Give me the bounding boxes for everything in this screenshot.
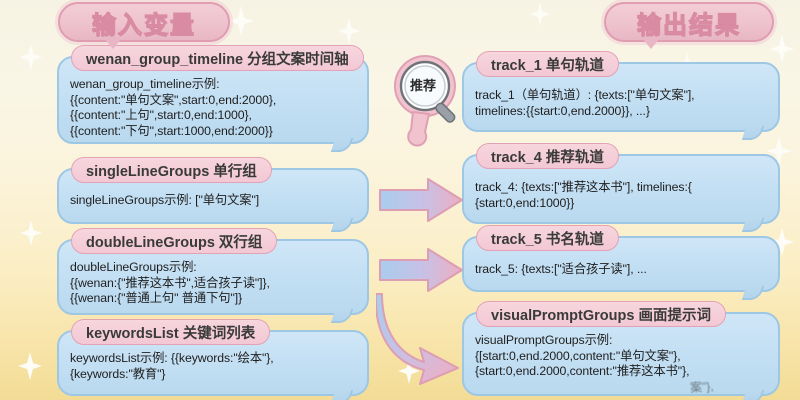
sparkle-icon [338,18,360,44]
card-track-4[interactable]: track_4 推荐轨道 track_4: {texts:["推荐这本书"], … [462,154,780,224]
card-title-keywords-list: keywordsList 关键词列表 [71,319,270,345]
card-body-wenan-group-timeline: wenan_group_timeline示例: {{content:"单句文案"… [59,58,367,147]
card-title-double-line-groups: doubleLineGroups 双行组 [71,228,277,254]
magnifier-icon: 推荐 [381,48,477,158]
sparkle-icon [20,44,42,70]
arrow-single-to-track4 [378,176,464,224]
card-tail [742,126,765,140]
arrow-keywords-to-visualprompt [376,288,466,388]
card-double-line-groups[interactable]: doubleLineGroups 双行组 doubleLineGroups示例:… [57,239,369,315]
card-title-visual-prompt-groups: visualPromptGroups 画面提示词 [476,301,726,327]
card-visual-prompt-groups[interactable]: visualPromptGroups 画面提示词 visualPromptGro… [462,312,780,396]
card-title-track-5: track_5 书名轨道 [476,225,619,251]
card-title-track-4: track_4 推荐轨道 [476,143,619,169]
card-tail [742,286,765,300]
card-tail [331,309,354,323]
header-tail [642,38,660,49]
input-variables-header: 输入变量 [58,2,230,42]
card-track-1[interactable]: track_1 单句轨道 track_1（单句轨道）: {texts:["单句文… [462,62,780,132]
card-track-5[interactable]: track_5 书名轨道 track_5: {texts:["适合孩子读"], … [462,236,780,292]
output-results-header: 输出结果 [604,2,774,42]
header-tail [104,38,122,49]
sparkle-icon [228,6,254,36]
sparkle-icon [530,2,550,26]
card-title-track-1: track_1 单句轨道 [476,51,619,77]
card-tail [331,390,354,400]
card-single-line-groups[interactable]: singleLineGroups 单行组 singleLineGroups示例:… [57,168,369,224]
card-tail [331,218,354,232]
sparkle-icon [20,220,42,246]
input-variables-header-label: 输入变量 [92,5,196,40]
card-tail [331,138,354,152]
card-keywords-list[interactable]: keywordsList 关键词列表 keywordsList示例: {{key… [57,330,369,396]
output-results-header-label: 输出结果 [637,5,741,40]
sparkle-icon [18,352,42,380]
card-wenan-group-timeline[interactable]: wenan_group_timeline 分组文案时间轴 wenan_group… [57,56,369,144]
card-tail [742,218,765,232]
sparkle-icon [770,35,794,63]
card-title-single-line-groups: singleLineGroups 单行组 [71,157,272,183]
card-tail [742,390,765,400]
arrow-double-to-track5 [378,246,464,294]
